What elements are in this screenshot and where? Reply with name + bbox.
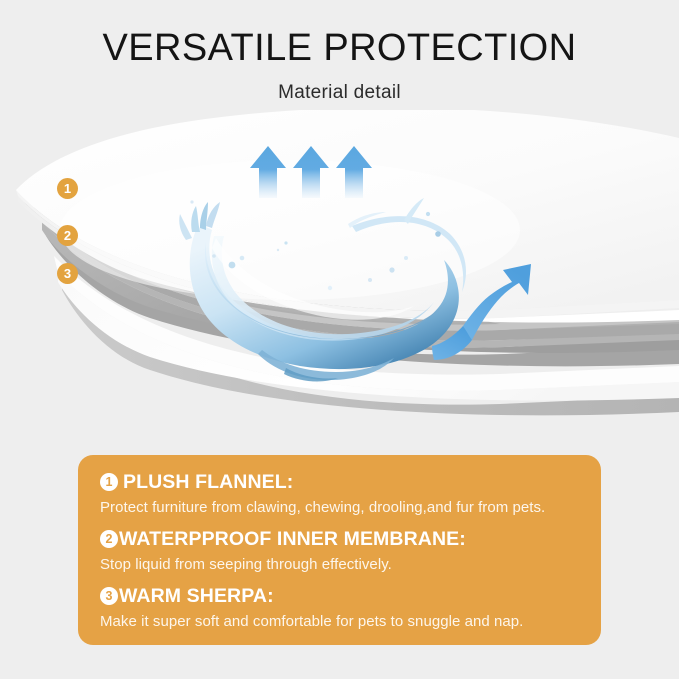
feature-2-description: Stop liquid from seeping through effecti… [100, 552, 581, 576]
droplet [229, 262, 236, 269]
droplet [212, 254, 216, 258]
page-title: VERSATILE PROTECTION [0, 0, 679, 70]
feature-2-heading: 2 WATERPPROOF INNER MEMBRANE: [100, 526, 581, 552]
droplet [328, 286, 332, 290]
page-subtitle: Material detail [0, 70, 679, 104]
feature-1-number: 1 [100, 473, 118, 491]
feature-item-3: 3 WARM SHERPA: Make it super soft and co… [100, 583, 581, 633]
feature-2-title: WATERPPROOF INNER MEMBRANE: [119, 526, 466, 552]
feature-3-heading: 3 WARM SHERPA: [100, 583, 581, 609]
droplet [277, 249, 279, 251]
product-feature-infographic: VERSATILE PROTECTION Material detail [0, 0, 679, 679]
layered-material-illustration [0, 110, 679, 440]
droplet [404, 256, 408, 260]
feature-3-number: 3 [100, 587, 118, 605]
features-panel: 1 PLUSH FLANNEL: Protect furniture from … [78, 455, 601, 645]
feature-3-title: WARM SHERPA: [119, 583, 274, 609]
feature-1-title: PLUSH FLANNEL: [123, 469, 293, 495]
droplet [389, 267, 394, 272]
droplet [284, 241, 287, 244]
droplet [190, 200, 193, 203]
feature-3-description: Make it super soft and comfortable for p… [100, 609, 581, 633]
droplet [435, 231, 441, 237]
droplet [426, 212, 430, 216]
layer-badge-1[interactable]: 1 [57, 178, 78, 199]
droplet [368, 278, 372, 282]
upward-arrows-group [250, 146, 372, 198]
feature-item-1: 1 PLUSH FLANNEL: Protect furniture from … [100, 469, 581, 519]
header: VERSATILE PROTECTION Material detail [0, 0, 679, 104]
feature-item-2: 2 WATERPPROOF INNER MEMBRANE: Stop liqui… [100, 526, 581, 576]
feature-1-description: Protect furniture from clawing, chewing,… [100, 495, 581, 519]
feature-2-number: 2 [100, 530, 118, 548]
feature-1-heading: 1 PLUSH FLANNEL: [100, 469, 581, 495]
layer-badge-3[interactable]: 3 [57, 263, 78, 284]
layer-badge-2[interactable]: 2 [57, 225, 78, 246]
droplet [240, 256, 245, 261]
